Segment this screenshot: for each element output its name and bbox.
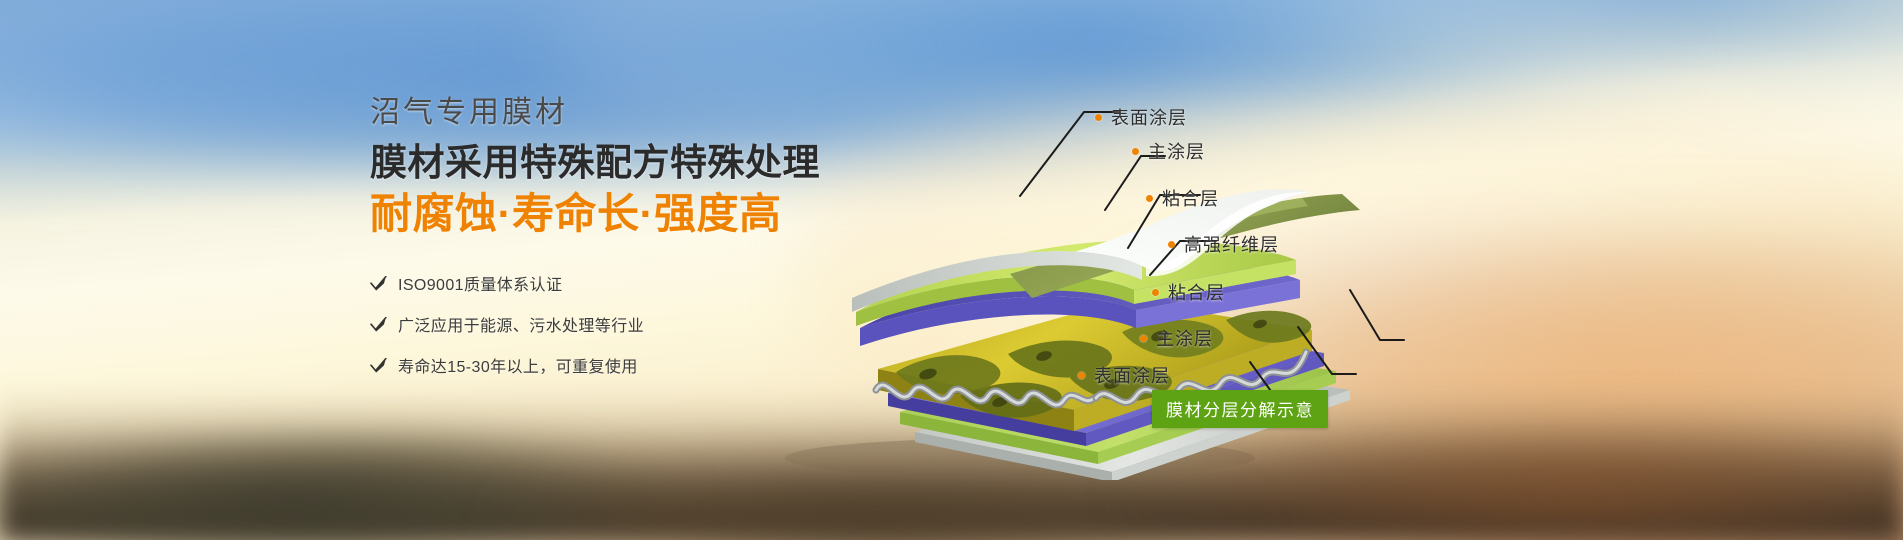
callout-adhesive-top[interactable]: 粘合层 <box>1146 185 1219 211</box>
callout-dot-icon <box>1078 372 1085 379</box>
callout-dot-icon <box>1168 241 1175 248</box>
callout-dot-icon <box>1132 148 1139 155</box>
callout-label: 高强纤维层 <box>1184 231 1279 257</box>
callout-label: 粘合层 <box>1168 279 1225 305</box>
callout-dot-icon <box>1140 335 1147 342</box>
check-icon <box>370 276 387 291</box>
callout-dot-icon <box>1152 289 1159 296</box>
cloud-band-right <box>1256 0 1903 54</box>
diagram-caption-badge: 膜材分层分解示意 <box>1152 390 1328 428</box>
promo-banner: 沼气专用膜材 膜材采用特殊配方特殊处理 耐腐蚀·寿命长·强度高 ISO9001质… <box>0 0 1903 540</box>
callout-surface-coating-bottom[interactable]: 表面涂层 <box>1078 362 1170 388</box>
callout-label: 主涂层 <box>1156 325 1213 351</box>
callout-dot-icon <box>1095 114 1102 121</box>
callout-dot-icon <box>1146 195 1153 202</box>
callout-label: 表面涂层 <box>1111 104 1187 130</box>
callout-adhesive-bottom[interactable]: 粘合层 <box>1152 279 1225 305</box>
callout-label: 表面涂层 <box>1094 362 1170 388</box>
callout-label: 粘合层 <box>1162 185 1219 211</box>
callout-surface-coating-top[interactable]: 表面涂层 <box>1095 104 1187 130</box>
callout-main-coating-bottom[interactable]: 主涂层 <box>1140 325 1213 351</box>
callout-label: 主涂层 <box>1148 138 1205 164</box>
callout-fiber-core[interactable]: 高强纤维层 <box>1168 231 1279 257</box>
check-icon <box>370 358 387 373</box>
feature-label: 广泛应用于能源、污水处理等行业 <box>398 312 644 336</box>
callout-main-coating-top[interactable]: 主涂层 <box>1132 138 1205 164</box>
feature-label: 寿命达15-30年以上，可重复使用 <box>398 353 638 377</box>
check-icon <box>370 317 387 332</box>
feature-label: ISO9001质量体系认证 <box>398 271 562 295</box>
